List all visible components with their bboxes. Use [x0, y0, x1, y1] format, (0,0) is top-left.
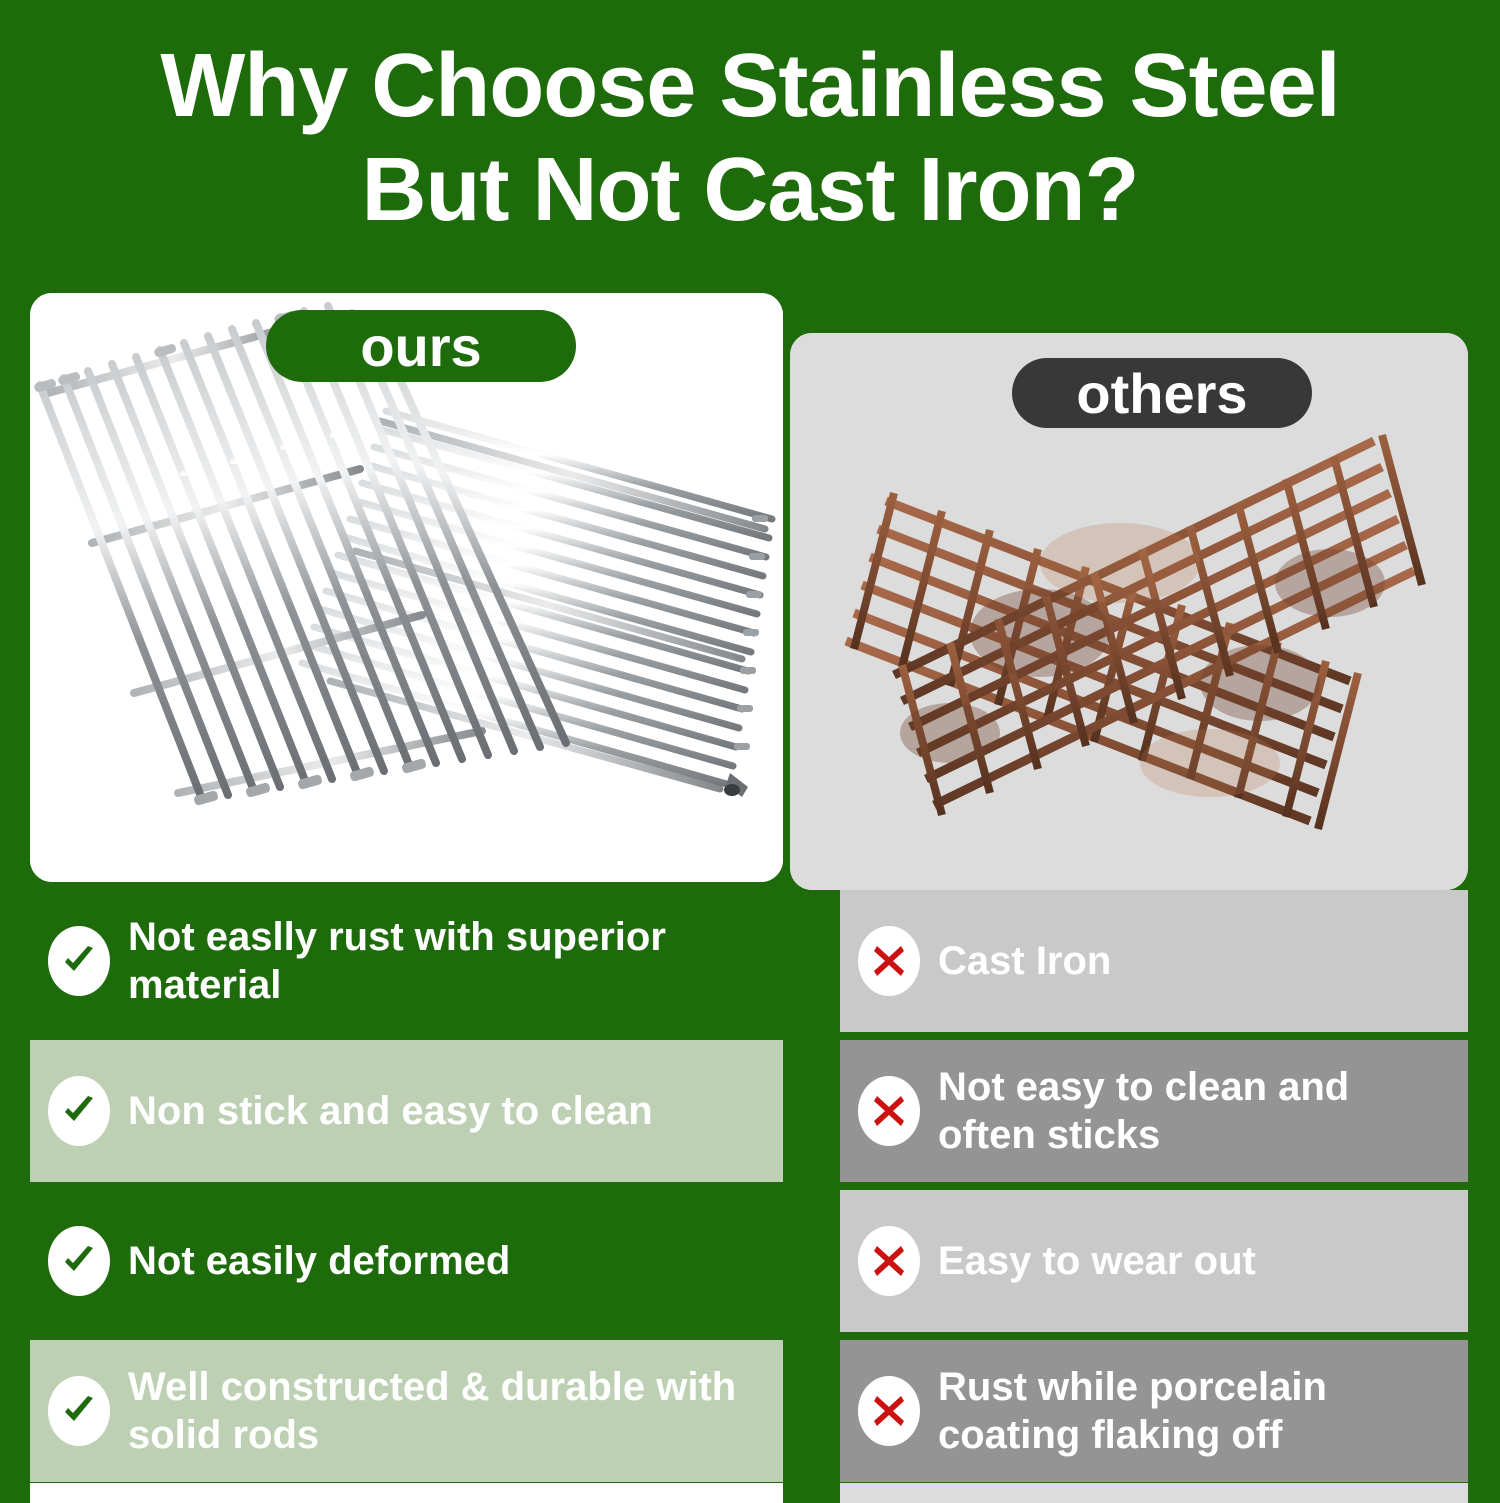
others-feature-label-2: Not easy to clean and often sticks [938, 1063, 1456, 1159]
ours-feature-label-3: Not easily deformed [128, 1237, 510, 1285]
ours-feature-label-4: Well constructed & durable with solid ro… [128, 1363, 771, 1459]
feature-rows-area: Not easlly rust with superior material N… [0, 890, 1500, 1500]
others-feature-row-3: Easy to wear out [840, 1190, 1468, 1332]
cross-icon [858, 1076, 920, 1146]
ours-feature-label-1: Not easlly rust with superior material [128, 913, 771, 1009]
ours-feature-column: Not easlly rust with superior material N… [30, 890, 783, 1490]
cross-icon [858, 1376, 920, 1446]
others-feature-label-1: Cast Iron [938, 937, 1111, 985]
check-icon [48, 926, 110, 996]
check-icon [48, 1226, 110, 1296]
others-next-row-partial [840, 1483, 1468, 1503]
comparison-photo-row [0, 0, 1500, 900]
others-feature-label-3: Easy to wear out [938, 1237, 1256, 1285]
check-icon [48, 1376, 110, 1446]
others-feature-label-4: Rust while porcelain coating flaking off [938, 1363, 1456, 1459]
ours-next-row-partial [30, 1483, 783, 1503]
ours-feature-row-2: Non stick and easy to clean [30, 1040, 783, 1182]
others-feature-row-1: Cast Iron [840, 890, 1468, 1032]
check-icon [48, 1076, 110, 1146]
others-feature-row-4: Rust while porcelain coating flaking off [840, 1340, 1468, 1482]
ours-feature-row-3: Not easily deformed [30, 1190, 783, 1332]
others-feature-row-2: Not easy to clean and often sticks [840, 1040, 1468, 1182]
ours-feature-row-1: Not easlly rust with superior material [30, 890, 783, 1032]
badge-ours-label: ours [360, 314, 481, 379]
ours-feature-row-4: Well constructed & durable with solid ro… [30, 1340, 783, 1482]
cross-icon [858, 1226, 920, 1296]
badge-ours: ours [266, 310, 576, 382]
cross-icon [858, 926, 920, 996]
ours-feature-label-2: Non stick and easy to clean [128, 1087, 653, 1135]
badge-others-label: others [1076, 361, 1247, 426]
others-feature-column: Cast Iron Not easy to clean and often st… [840, 890, 1468, 1490]
badge-others: others [1012, 358, 1312, 428]
